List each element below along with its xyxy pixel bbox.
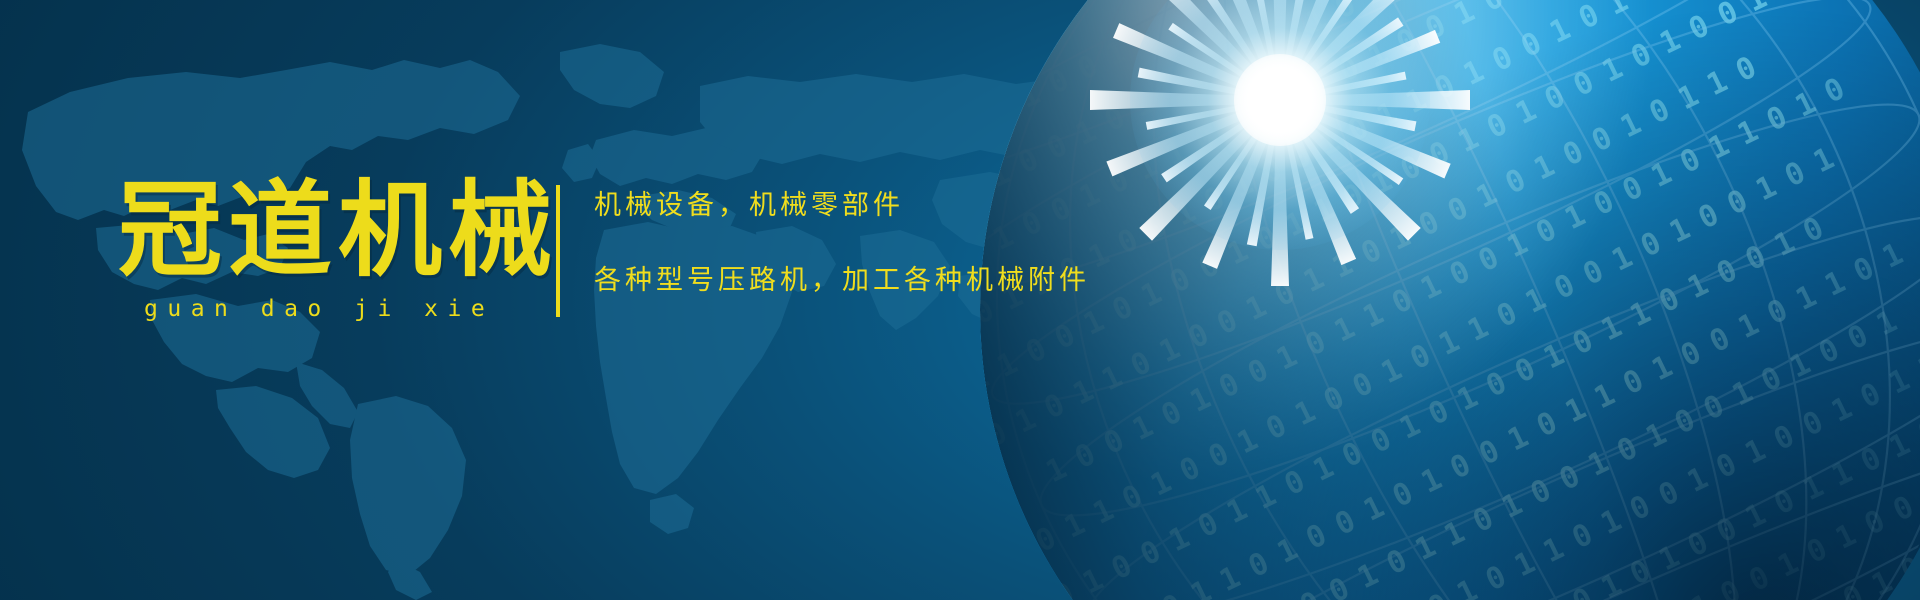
brand-name-pinyin: guan dao ji xie — [118, 296, 548, 322]
brand-name-chinese: 冠道机械 — [118, 178, 548, 282]
tagline-line-1: 机械设备，机械零部件 — [594, 192, 1294, 219]
vertical-divider-icon — [556, 185, 560, 317]
banner-content: 冠道机械 guan dao ji xie 机械设备，机械零部件 各种型号压路机，… — [0, 0, 1920, 600]
hero-banner: 1001010010110100101001011010 01101001010… — [0, 0, 1920, 600]
tagline-block: 机械设备，机械零部件 各种型号压路机，加工各种机械附件 — [594, 192, 1294, 294]
brand-logo: 冠道机械 guan dao ji xie — [118, 178, 548, 322]
tagline-line-2: 各种型号压路机，加工各种机械附件 — [594, 267, 1294, 294]
